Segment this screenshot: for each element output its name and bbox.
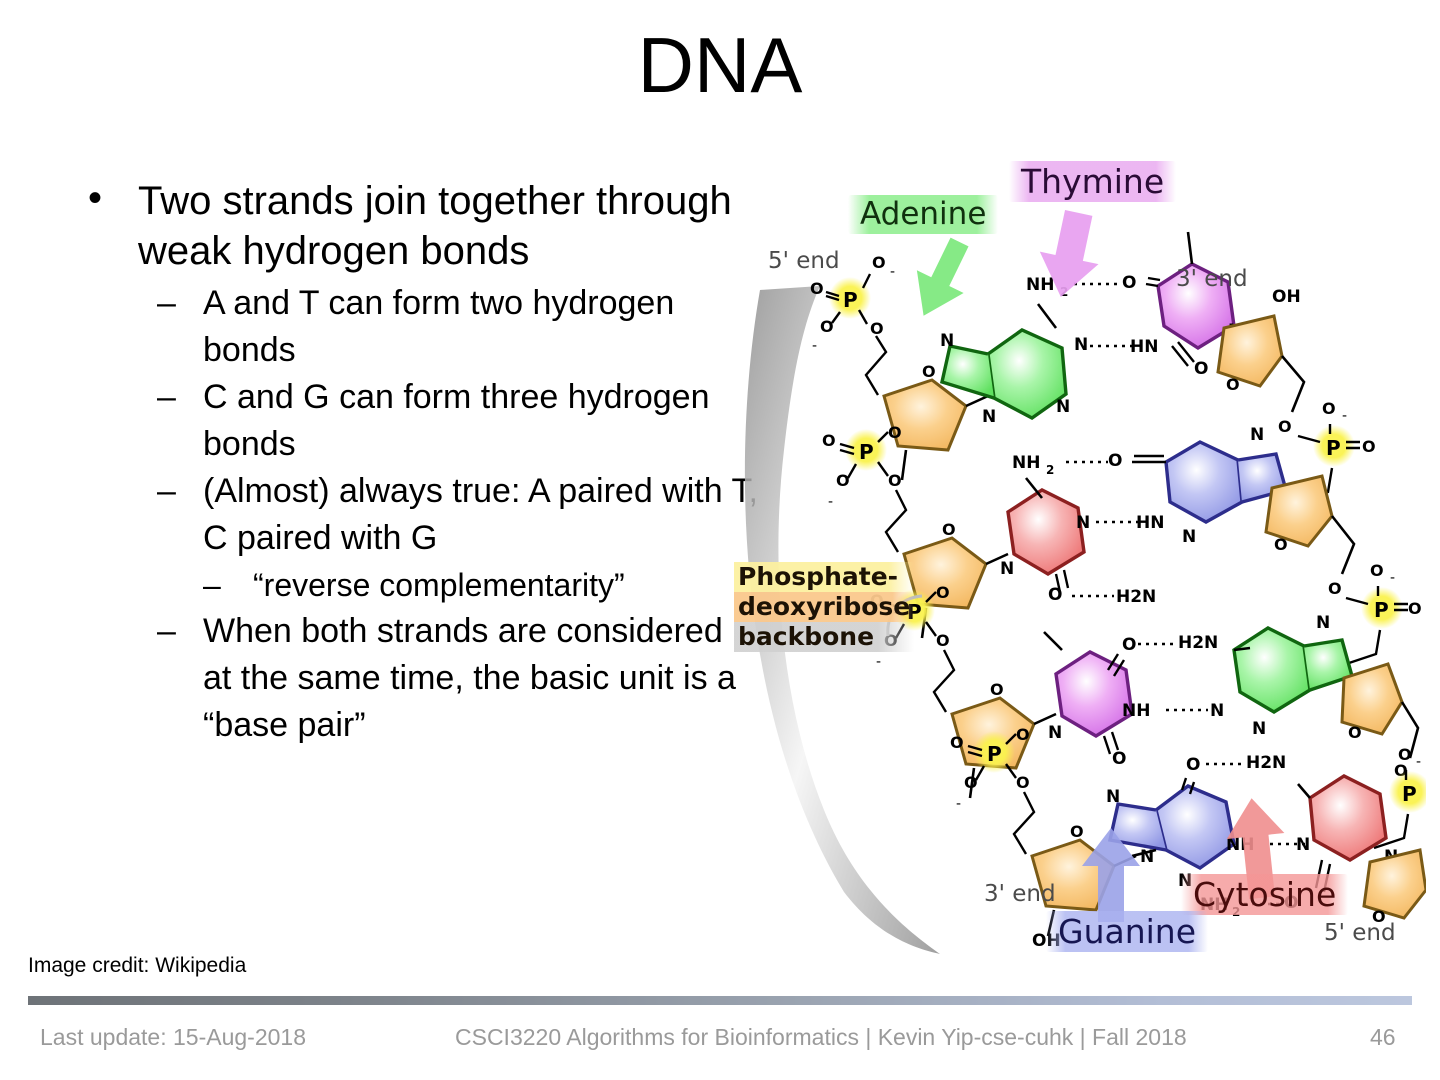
svg-text:N: N bbox=[982, 407, 996, 427]
svg-text:N: N bbox=[1210, 701, 1224, 721]
svg-text:-: - bbox=[956, 796, 961, 812]
svg-text:P: P bbox=[987, 742, 1002, 766]
svg-text:N: N bbox=[1056, 397, 1070, 417]
list-item-text: When both strands are considered at the … bbox=[203, 612, 736, 744]
dash-marker: – bbox=[157, 468, 176, 515]
svg-text:O: O bbox=[888, 471, 902, 490]
svg-text:O: O bbox=[1112, 749, 1126, 769]
svg-text:O: O bbox=[1322, 399, 1336, 418]
svg-text:-: - bbox=[1416, 754, 1421, 770]
svg-text:O: O bbox=[836, 471, 850, 490]
svg-text:P: P bbox=[1402, 782, 1417, 806]
list-item-text: A and T can form two hydrogen bonds bbox=[203, 284, 674, 369]
svg-text:O: O bbox=[1122, 273, 1136, 293]
thymine-base: N O O NH bbox=[1044, 632, 1150, 769]
svg-text:O: O bbox=[872, 253, 886, 272]
backbone-label-line2: deoxyribose bbox=[734, 592, 914, 622]
cytosine-label: Cytosine bbox=[1181, 874, 1348, 915]
svg-text:N: N bbox=[1182, 527, 1196, 547]
footer-divider-bar bbox=[28, 996, 1412, 1005]
svg-text:-: - bbox=[828, 494, 833, 510]
adenine-arrow bbox=[900, 231, 983, 327]
svg-text:HN: HN bbox=[1136, 513, 1164, 533]
svg-text:P: P bbox=[1374, 598, 1389, 622]
svg-text:O: O bbox=[1398, 745, 1412, 764]
list-item: – (Almost) always true: A paired with T,… bbox=[58, 468, 758, 562]
svg-text:O: O bbox=[1328, 579, 1342, 598]
dash-marker: – bbox=[157, 608, 176, 655]
svg-text:P: P bbox=[1326, 436, 1341, 460]
svg-text:-: - bbox=[1390, 570, 1395, 586]
svg-text:O: O bbox=[1186, 755, 1200, 775]
svg-text:P: P bbox=[843, 288, 858, 312]
list-item: – When both strands are considered at th… bbox=[58, 608, 758, 749]
svg-text:N: N bbox=[1000, 559, 1014, 579]
end-label-3prime-top: 3' end bbox=[1176, 268, 1248, 291]
svg-text:N: N bbox=[1048, 723, 1062, 743]
dash-marker: – bbox=[157, 280, 176, 327]
backbone-label-line1: Phosphate- bbox=[734, 562, 914, 592]
svg-text:N: N bbox=[940, 331, 954, 351]
svg-text:O: O bbox=[950, 733, 964, 752]
svg-text:O: O bbox=[1274, 535, 1288, 554]
deoxyribose-sugar: O bbox=[1342, 664, 1418, 758]
svg-text:O: O bbox=[1016, 725, 1030, 744]
backbone-label-line3: backbone bbox=[734, 622, 914, 652]
svg-text:O: O bbox=[870, 319, 884, 338]
dash-marker: – bbox=[157, 374, 176, 421]
end-label-5prime-top: 5' end bbox=[768, 250, 840, 273]
svg-text:O: O bbox=[936, 583, 950, 602]
svg-text:H2N: H2N bbox=[1246, 753, 1286, 773]
svg-text:N: N bbox=[1250, 425, 1264, 445]
svg-text:-: - bbox=[1342, 408, 1347, 424]
svg-text:O: O bbox=[942, 520, 956, 539]
list-item: – “reverse complementarity” bbox=[58, 562, 758, 608]
svg-text:2: 2 bbox=[1046, 463, 1054, 477]
svg-text:N: N bbox=[1074, 335, 1088, 355]
bullet-list: • Two strands join together through weak… bbox=[58, 176, 758, 749]
svg-text:O: O bbox=[1362, 437, 1376, 456]
image-credit: Image credit: Wikipedia bbox=[28, 953, 246, 979]
svg-text:N: N bbox=[1252, 719, 1266, 739]
guanine-label: Guanine bbox=[1046, 911, 1208, 952]
svg-text:O: O bbox=[990, 680, 1004, 699]
list-item-text: (Almost) always true: A paired with T, C… bbox=[203, 472, 758, 557]
svg-text:O: O bbox=[936, 631, 950, 650]
page-title: DNA bbox=[0, 22, 1440, 108]
svg-text:P: P bbox=[859, 440, 874, 464]
svg-text:-: - bbox=[890, 264, 895, 280]
svg-text:O: O bbox=[964, 773, 978, 792]
end-label-5prime-bottom: 5' end bbox=[1324, 922, 1396, 945]
svg-text:HN: HN bbox=[1130, 337, 1158, 357]
backbone-label: Phosphate- deoxyribose backbone bbox=[734, 562, 914, 652]
phosphate-group: P O - O O - O bbox=[810, 253, 895, 395]
svg-text:N: N bbox=[1106, 787, 1120, 807]
footer-last-update: Last update: 15-Aug-2018 bbox=[40, 1024, 306, 1051]
phosphate-group: P O O - O O bbox=[822, 423, 906, 552]
deoxyribose-sugar: O bbox=[1266, 476, 1354, 574]
svg-text:NH: NH bbox=[1012, 453, 1040, 473]
deoxyribose-sugar: O bbox=[1364, 850, 1426, 926]
list-item: – C and G can form three hydrogen bonds bbox=[58, 374, 758, 468]
svg-text:O: O bbox=[822, 431, 836, 450]
list-item: • Two strands join together through weak… bbox=[58, 176, 758, 276]
svg-text:O: O bbox=[1370, 561, 1384, 580]
bullet-marker: • bbox=[88, 173, 102, 223]
adenine-label: Adenine bbox=[848, 195, 998, 234]
svg-text:O: O bbox=[1194, 359, 1208, 379]
svg-text:O: O bbox=[922, 362, 936, 381]
svg-text:O: O bbox=[1070, 822, 1084, 841]
svg-text:O: O bbox=[1108, 451, 1122, 471]
svg-text:NH: NH bbox=[1122, 701, 1150, 721]
svg-text:O: O bbox=[1122, 635, 1136, 655]
svg-text:O: O bbox=[820, 317, 834, 336]
svg-text:N: N bbox=[1076, 513, 1090, 533]
dna-base-pairing-diagram: P O - O O - O O bbox=[726, 150, 1426, 960]
svg-text:O: O bbox=[888, 423, 902, 442]
list-item-text: Two strands join together through weak h… bbox=[138, 179, 732, 273]
svg-text:-: - bbox=[876, 654, 881, 670]
cytosine-base: N N NH 2 O bbox=[1000, 453, 1090, 605]
svg-text:-: - bbox=[812, 338, 817, 354]
dash-marker: – bbox=[203, 562, 221, 608]
list-item: – A and T can form two hydrogen bonds bbox=[58, 280, 758, 374]
svg-text:O: O bbox=[1226, 375, 1240, 394]
end-label-3prime-bottom: 3' end bbox=[984, 883, 1056, 906]
slide: DNA • Two strands join together through … bbox=[0, 0, 1440, 1080]
svg-text:H2N: H2N bbox=[1178, 633, 1218, 653]
svg-text:OH: OH bbox=[1272, 287, 1301, 307]
svg-text:N: N bbox=[1316, 613, 1330, 633]
footer-course-info: CSCI3220 Algorithms for Bioinformatics |… bbox=[455, 1024, 1187, 1051]
svg-text:O: O bbox=[1348, 723, 1362, 742]
svg-text:O: O bbox=[1278, 417, 1292, 436]
svg-text:O: O bbox=[1408, 599, 1422, 618]
svg-text:N: N bbox=[1296, 835, 1310, 855]
list-item-text: “reverse complementarity” bbox=[253, 567, 625, 603]
footer-page-number: 46 bbox=[1370, 1024, 1396, 1051]
thymine-label: Thymine bbox=[1009, 161, 1176, 202]
svg-text:NH: NH bbox=[1026, 275, 1054, 295]
svg-text:H2N: H2N bbox=[1116, 587, 1156, 607]
list-item-text: C and G can form three hydrogen bonds bbox=[203, 378, 710, 463]
svg-text:O: O bbox=[810, 279, 824, 298]
svg-text:O: O bbox=[1016, 773, 1030, 792]
